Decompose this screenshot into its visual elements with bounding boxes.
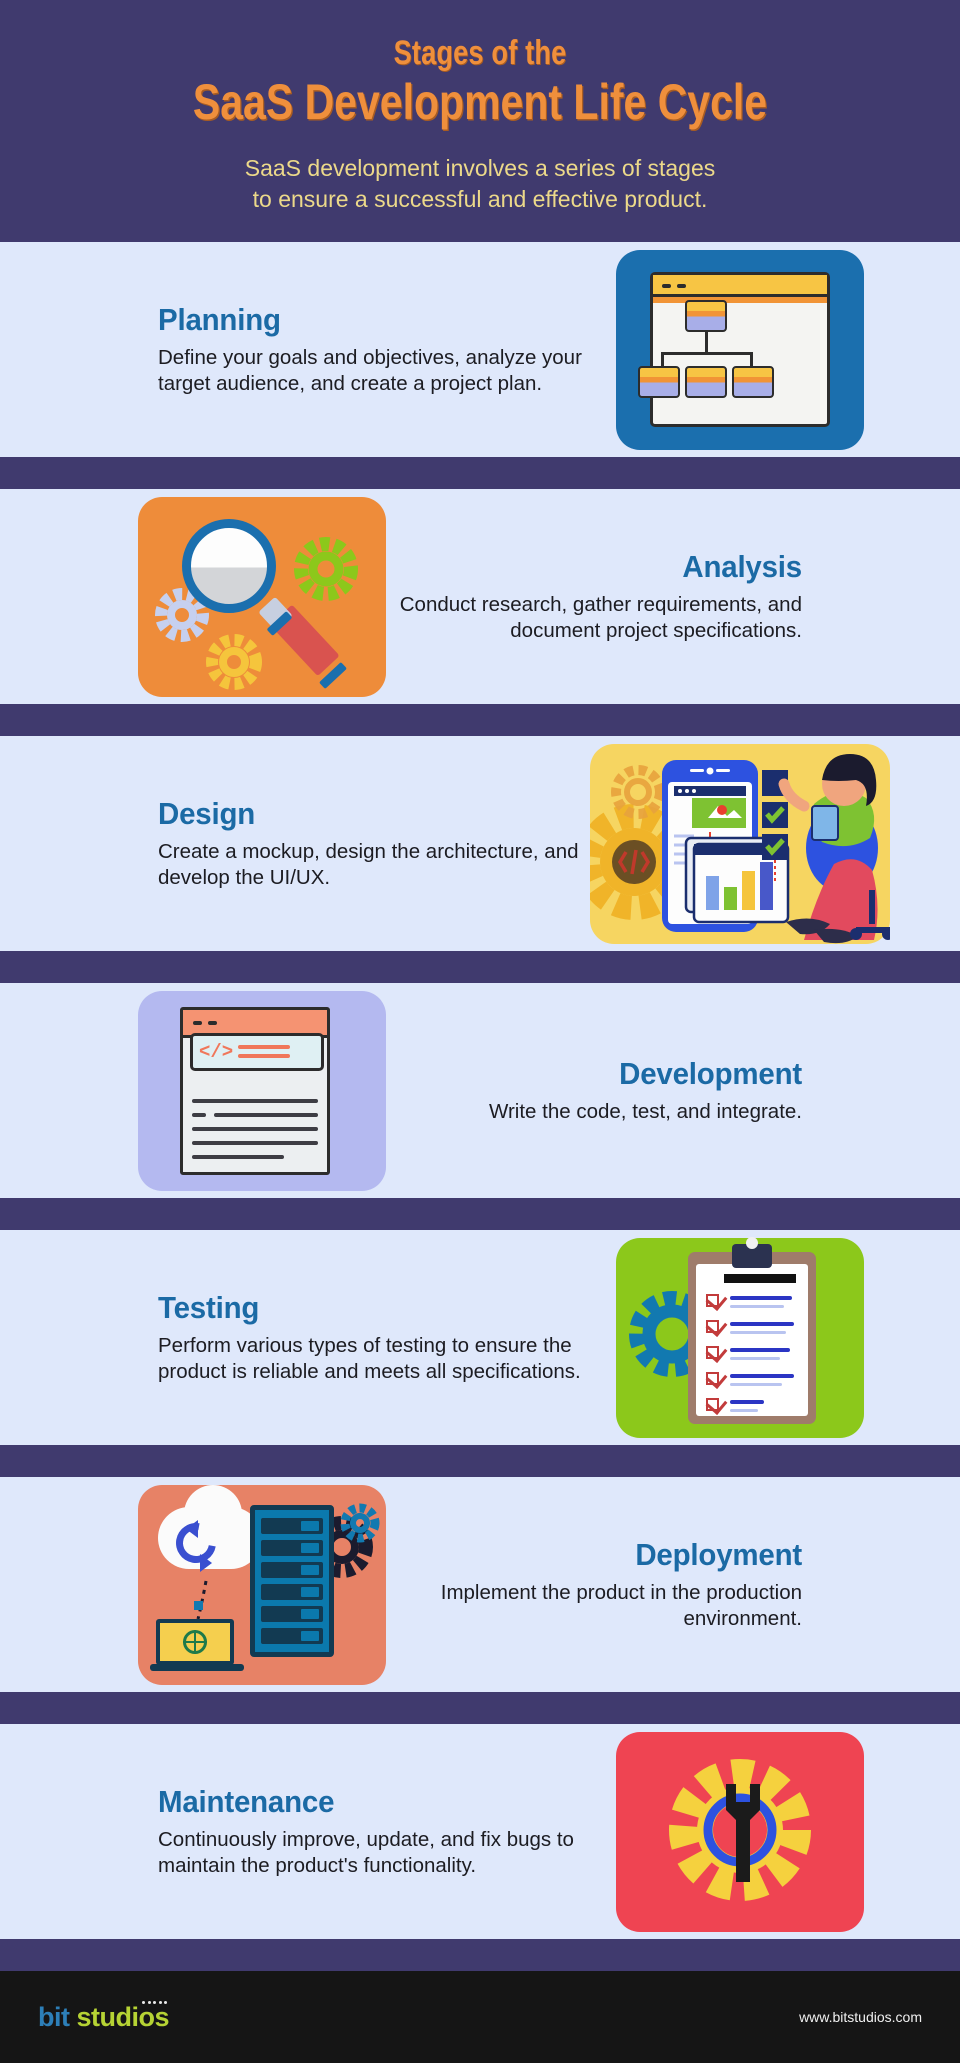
divider	[0, 1198, 960, 1230]
title-line-1: Stages of the	[128, 36, 832, 72]
divider	[0, 457, 960, 489]
stage-description: Define your goals and objectives, analyz…	[158, 345, 592, 398]
stage-text-testing: Testing Perform various types of testing…	[140, 1290, 610, 1386]
stage-design: Design Create a mockup, design the archi…	[0, 736, 960, 951]
stage-title: Testing	[158, 1290, 570, 1326]
divider	[0, 951, 960, 983]
stage-title: Design	[158, 796, 570, 832]
stage-description: Implement the product in the production …	[368, 1580, 802, 1633]
title-line-2: SaaS Development Life Cycle	[119, 75, 841, 129]
stage-text-deployment: Deployment Implement the product in the …	[350, 1537, 820, 1633]
stage-description: Continuously improve, update, and fix bu…	[158, 1827, 592, 1880]
stage-description: Write the code, test, and integrate.	[368, 1099, 802, 1125]
stage-title: Development	[390, 1056, 802, 1092]
magnifying-glass-gears-icon	[138, 497, 386, 697]
logo-bit: bit	[38, 2002, 70, 2032]
logo-dots-icon	[142, 2001, 167, 2004]
clipboard-checklist-icon	[616, 1238, 864, 1438]
code-document-icon: </>	[138, 991, 386, 1191]
subtitle: SaaS development involves a series of st…	[40, 153, 920, 216]
subtitle-line-2: to ensure a successful and effective pro…	[40, 184, 920, 216]
header: Stages of the SaaS Development Life Cycl…	[0, 0, 960, 242]
divider	[0, 704, 960, 736]
stage-maintenance: Maintenance Continuously improve, update…	[0, 1724, 960, 1939]
stage-title: Analysis	[390, 549, 802, 585]
sitemap-browser-icon	[616, 250, 864, 450]
stage-title: Planning	[158, 302, 570, 338]
footer: bit studios www.bitstudios.com	[0, 1971, 960, 2063]
logo-studios: studios	[77, 2002, 170, 2032]
divider	[0, 1692, 960, 1724]
divider	[0, 1939, 960, 1971]
bitstudios-logo: bit studios	[38, 2002, 169, 2033]
stage-development: </> Development Write the code, test, an…	[0, 983, 960, 1198]
stage-text-analysis: Analysis Conduct research, gather requir…	[350, 549, 820, 645]
divider	[0, 1445, 960, 1477]
stage-testing: Testing Perform various types of testing…	[0, 1230, 960, 1445]
stage-title: Deployment	[390, 1537, 802, 1573]
stage-deployment: Deployment Implement the product in the …	[0, 1477, 960, 1692]
stage-description: Perform various types of testing to ensu…	[158, 1333, 592, 1386]
stage-analysis: Analysis Conduct research, gather requir…	[0, 489, 960, 704]
stage-text-development: Development Write the code, test, and in…	[350, 1056, 820, 1125]
designer-mobile-mockup-icon	[590, 744, 890, 944]
footer-url: www.bitstudios.com	[799, 2009, 922, 2025]
stage-text-maintenance: Maintenance Continuously improve, update…	[140, 1784, 610, 1880]
stage-description: Create a mockup, design the architecture…	[158, 839, 592, 892]
infographic-page: Stages of the SaaS Development Life Cycl…	[0, 0, 960, 2048]
gear-wrench-icon	[616, 1732, 864, 1932]
stage-description: Conduct research, gather requirements, a…	[368, 592, 802, 645]
stage-title: Maintenance	[158, 1784, 570, 1820]
cloud-server-deploy-icon	[138, 1485, 386, 1685]
stage-planning: Planning Define your goals and objective…	[0, 242, 960, 457]
subtitle-line-1: SaaS development involves a series of st…	[40, 153, 920, 185]
stage-text-planning: Planning Define your goals and objective…	[140, 302, 610, 398]
stage-text-design: Design Create a mockup, design the archi…	[140, 796, 610, 892]
